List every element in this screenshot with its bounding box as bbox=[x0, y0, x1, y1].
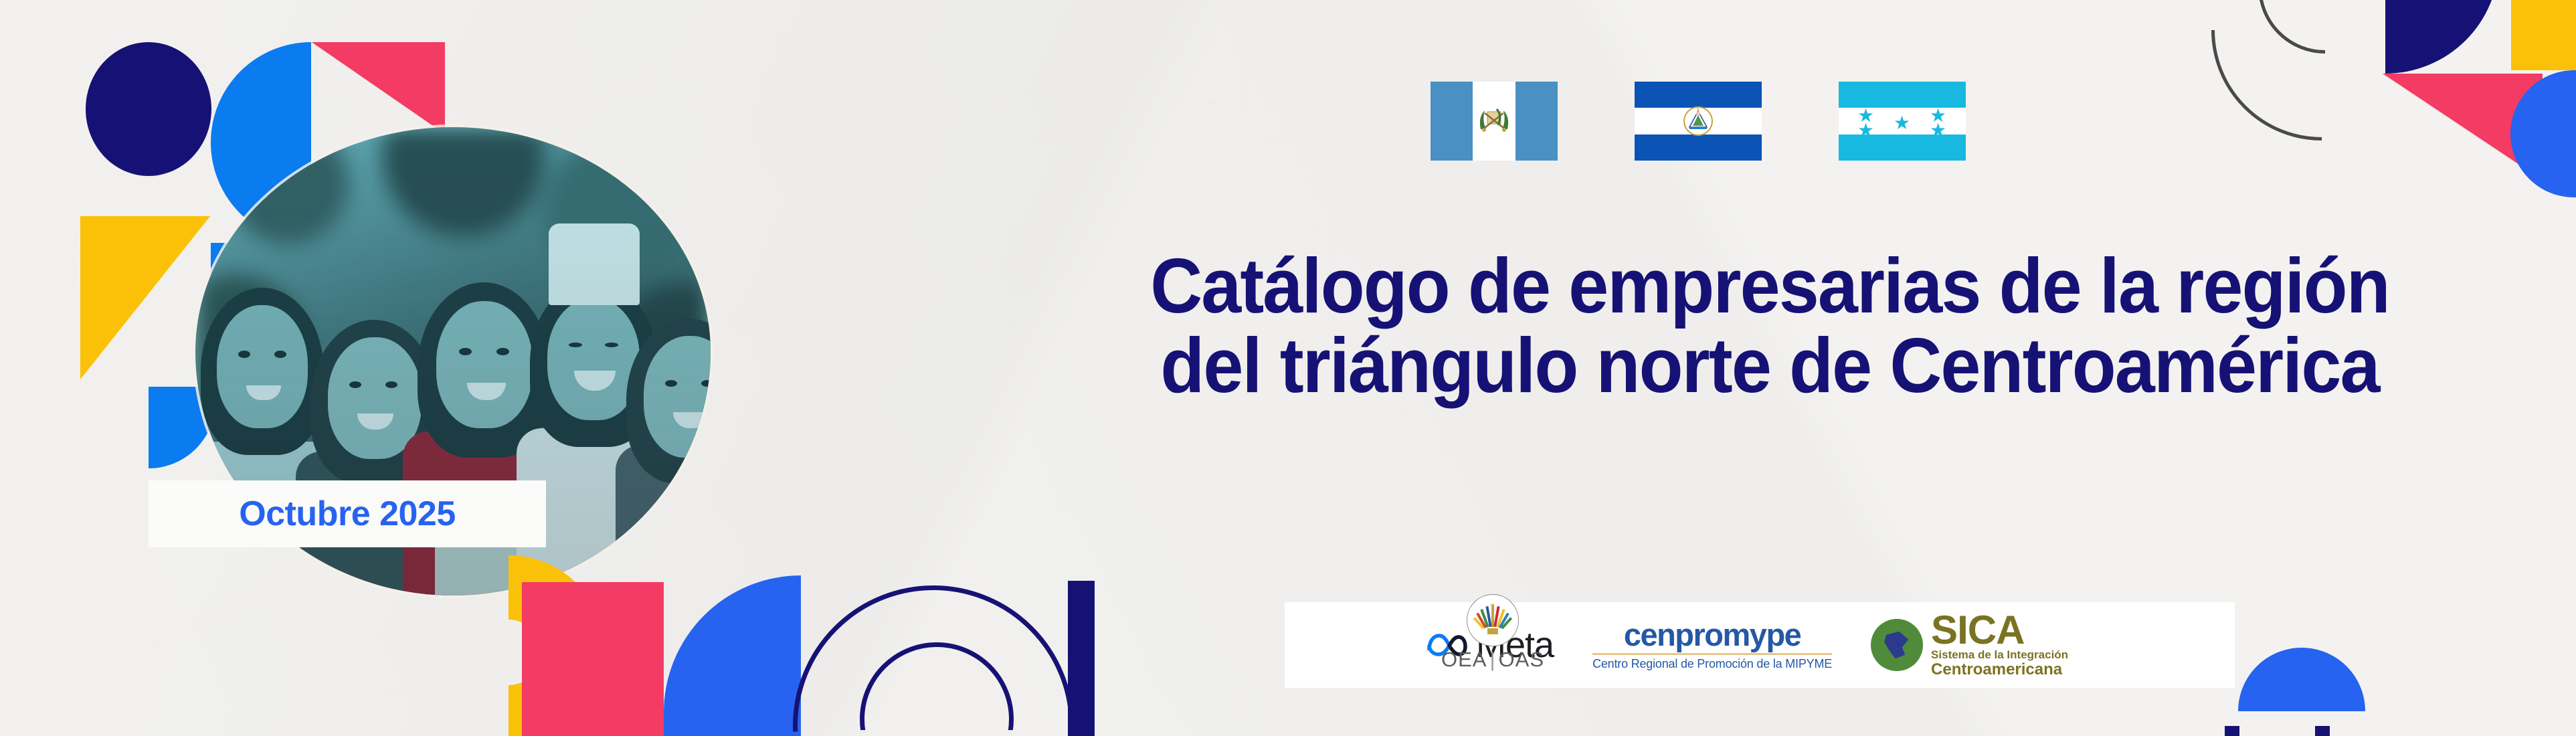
cenpromype-rule bbox=[1592, 653, 1832, 655]
navy-bar-decoration bbox=[1068, 581, 1095, 736]
pink-triangle-decoration bbox=[311, 42, 445, 134]
cenpromype-subtitle: Centro Regional de Promoción de la MIPYM… bbox=[1592, 657, 1832, 671]
cenpromype-logo: cenpromype Centro Regional de Promoción … bbox=[1592, 619, 1832, 671]
blue-quarter-circle-bottom-decoration bbox=[664, 575, 801, 736]
navy-quarter-circle-decoration bbox=[2385, 0, 2499, 74]
yellow-triangle-decoration bbox=[80, 216, 211, 380]
el-salvador-coat-of-arms-icon bbox=[1683, 106, 1714, 136]
guatemala-flag bbox=[1431, 82, 1558, 161]
oea-seal-icon bbox=[1467, 594, 1519, 646]
el-salvador-flag bbox=[1635, 82, 1762, 161]
honduras-star-icon: ★ bbox=[1894, 114, 1910, 132]
cenpromype-wordmark: cenpromype bbox=[1624, 619, 1801, 650]
page-title: Catálogo de empresarias de la región del… bbox=[1144, 246, 2395, 406]
catalog-banner: Octubre 2025 bbox=[0, 0, 2576, 736]
oea-text-es: OEA bbox=[1441, 648, 1487, 671]
yellow-square-decoration bbox=[2511, 0, 2576, 70]
oea-separator: | bbox=[1489, 648, 1495, 671]
guatemala-coat-of-arms-icon bbox=[1474, 101, 1514, 141]
honduras-star-icon: ★ bbox=[1930, 121, 1946, 140]
title-block: Catálogo de empresarias de la región del… bbox=[1097, 246, 2442, 406]
honduras-flag: ★ ★ ★ ★ ★ bbox=[1839, 82, 1966, 161]
sica-subtitle-line1: Sistema de la Integración bbox=[1931, 648, 2068, 662]
date-badge: Octubre 2025 bbox=[149, 480, 546, 547]
sica-logo: SICA Sistema de la Integración Centroame… bbox=[1871, 612, 2068, 678]
honduras-star-icon: ★ bbox=[1857, 121, 1874, 140]
navy-small-square-decoration bbox=[2225, 726, 2239, 736]
sica-subtitle-line2: Centroamericana bbox=[1931, 662, 2068, 678]
oea-oas-logo: OEA|OAS bbox=[1429, 594, 1556, 688]
oea-wordmark: OEA|OAS bbox=[1441, 648, 1544, 672]
sica-seal-icon bbox=[1871, 619, 1923, 671]
sica-wordmark: SICA bbox=[1931, 612, 2068, 648]
country-flags: ★ ★ ★ ★ ★ bbox=[1431, 82, 1966, 161]
navy-ellipse-decoration bbox=[86, 42, 211, 176]
partner-logos-bar: Meta cenpromype Centro Regional de Promo… bbox=[1285, 602, 2235, 688]
pink-rectangle-decoration bbox=[522, 582, 664, 736]
navy-small-square-decoration bbox=[2315, 726, 2330, 736]
blue-semicircle-decoration bbox=[2238, 648, 2365, 711]
oea-text-en: OAS bbox=[1499, 648, 1544, 671]
date-label: Octubre 2025 bbox=[239, 494, 456, 534]
